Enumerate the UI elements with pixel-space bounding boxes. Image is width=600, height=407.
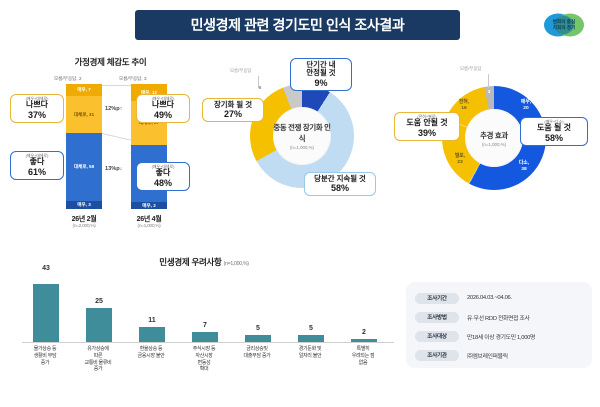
bar-category-0: 물가상승 등생활비 부담증가 — [19, 346, 71, 366]
delta-bad: 12%p↑ — [105, 106, 122, 112]
callout-good-feb: (매우+대체로) 좋다 61% — [10, 151, 64, 180]
concerns-chart-title-n: (n=1,000,%) — [224, 261, 249, 267]
budget-slice-none-value: 16 — [461, 106, 466, 111]
info-value-target: 만18세 이상 경기도민 1,000명 — [467, 332, 535, 341]
gyeonggi-logo: 변화의 중심 기회의 경기 — [542, 12, 586, 38]
callout-bad-apr-label: 나쁘다 — [141, 101, 185, 110]
callout-bad-feb-label: 나쁘다 — [15, 101, 59, 110]
axis-label-apr: 26년 4월 (n=1,000,%) — [114, 214, 184, 229]
callout-good-apr-label: 좋다 — [141, 169, 185, 178]
bar-category-4: 금리상승및대출부담 증가 — [231, 346, 283, 360]
survey-info-box: 조사기간 2026.04.03.~04.06. 조사방법 유·무선 RDD 전화… — [406, 282, 592, 368]
budget-slice-none: 전혀, 16 — [454, 100, 474, 112]
bar-category-1: 유가상승에따른교통비 물류비증가 — [72, 346, 124, 373]
callout-war-continue-value: 58% — [309, 183, 371, 193]
page-title: 민생경제 관련 경기도민 인식 조사결과 — [135, 10, 460, 40]
callout-bad-feb: (매우+대체로) 나쁘다 37% — [10, 94, 64, 123]
segment-very-good-feb: 매우, 3 — [66, 201, 102, 209]
info-row-agency: 조사기관 ㈜엠브레인퍼블릭 — [415, 348, 508, 362]
bar-feb: 매우, 7 대체로, 31 대체로, 58 매우, 3 — [66, 84, 102, 209]
info-row-period: 조사기간 2026.04.03.~04.06. — [415, 291, 512, 305]
info-value-method: 유·무선 RDD 전화면접 조사 — [467, 313, 530, 322]
bar-value-2: 11 — [139, 317, 165, 324]
axis-label-feb: 26년 2월 (n=2,000,%) — [49, 214, 119, 229]
bar-value-4: 5 — [245, 325, 271, 332]
bar-0 — [33, 284, 59, 342]
bar-value-3: 7 — [192, 322, 218, 329]
budget-slice-some-value: 38 — [521, 167, 526, 172]
info-key-method: 조사방법 — [415, 312, 459, 323]
concerns-plot-area: 43 25 11 7 5 5 2 — [22, 274, 394, 343]
budget-slice-very-name: 매우, — [521, 100, 531, 105]
callout-war-continue-label: 당분간 지속될 것 — [309, 175, 371, 183]
callout-budget-help: (매우+다소) 도움 될 것 58% — [520, 117, 588, 146]
callout-bad-apr: (매우+대체로) 나쁘다 49% — [136, 94, 190, 123]
info-value-agency: ㈜엠브레인퍼블릭 — [467, 351, 508, 360]
logo-line-2: 기회의 경기 — [553, 25, 575, 31]
war-slice-dk-value: 6 — [254, 86, 266, 92]
callout-budget-help-label: 도움 될 것 — [525, 124, 583, 133]
concerns-bar-chart: 민생경제 우려사항 (n=1,000,%) 43 25 11 7 5 5 2 물… — [8, 252, 400, 402]
concerns-chart-title-text: 민생경제 우려사항 — [159, 257, 221, 267]
callout-good-apr-value: 48% — [141, 178, 185, 188]
bar-4 — [245, 335, 271, 342]
concerns-chart-title: 민생경제 우려사항 (n=1,000,%) — [8, 256, 400, 268]
axis-label-feb-n: (n=2,000,%) — [49, 224, 119, 229]
page-title-text: 민생경제 관련 경기도민 인식 조사결과 — [191, 15, 405, 35]
axis-label-apr-n: (n=1,000,%) — [114, 224, 184, 229]
budget-effect-chart: 추경 효과 (n=1,000,%) 모름/무응답 3 매우, 20 다소, 38… — [396, 62, 592, 227]
war-donut-center: 중동 전쟁 장기화 인식 (n=1,000,%) — [273, 107, 331, 165]
callout-budget-nohelp: (전혀+별로) 도움 안될 것 39% — [394, 112, 460, 141]
budget-dk-leader — [488, 74, 489, 88]
bar-value-5: 5 — [298, 325, 324, 332]
info-value-period: 2026.04.03.~04.06. — [467, 295, 512, 301]
connector-top — [102, 85, 131, 86]
bar-value-1: 25 — [86, 298, 112, 305]
budget-donut-center: 추경 효과 (n=1,000,%) — [465, 109, 523, 167]
war-donut-center-n: (n=1,000,%) — [290, 145, 314, 150]
budget-slice-some: 다소, 38 — [514, 161, 534, 173]
axis-label-feb-text: 26년 2월 — [72, 216, 97, 223]
callout-war-short: 단기간 내 안정될 것 9% — [290, 58, 352, 91]
bar-3 — [192, 332, 218, 342]
axis-label-apr-text: 26년 4월 — [137, 216, 162, 223]
info-row-target: 조사대상 만18세 이상 경기도민 1,000명 — [415, 329, 535, 343]
callout-war-short-l2: 안정될 것 — [295, 69, 347, 77]
budget-slice-none-name: 전혀, — [459, 100, 469, 105]
callout-war-short-value: 9% — [295, 78, 347, 88]
bar-6 — [351, 339, 377, 342]
household-economy-chart: 가정경제 체감도 추이 모름/무응답, 2 매우, 7 대체로, 31 대체로,… — [8, 56, 213, 231]
dk-label-feb: 모름/무응답, 2 — [54, 76, 82, 82]
header: 민생경제 관련 경기도민 인식 조사결과 변화의 중심 기회의 경기 — [0, 0, 600, 46]
household-economy-title: 가정경제 체감도 추이 — [8, 56, 213, 68]
bar-2 — [139, 327, 165, 342]
budget-slice-very-value: 20 — [523, 106, 528, 111]
callout-bad-feb-value: 37% — [15, 110, 59, 120]
budget-slice-dk-value: 3 — [482, 90, 496, 96]
callout-budget-help-value: 58% — [525, 133, 583, 143]
logo-text: 변화의 중심 기회의 경기 — [542, 12, 586, 38]
bar-5 — [298, 335, 324, 342]
bar-value-6: 2 — [351, 329, 377, 336]
callout-good-feb-value: 61% — [15, 167, 59, 177]
budget-slice-little: 별로, 23 — [450, 154, 470, 166]
callout-war-long-value: 27% — [207, 109, 259, 119]
bar-category-3: 주식시장 등자산시장변동성확대 — [178, 346, 230, 373]
callout-budget-nohelp-value: 39% — [399, 128, 455, 138]
bar-category-5: 경기둔화 및일자리 불안 — [284, 346, 336, 360]
bar-category-6: 특별히우려되는 점없음 — [337, 346, 389, 366]
callout-war-long-label: 장기화 될 것 — [207, 101, 259, 109]
segment-bad-feb: 대체로, 31 — [66, 96, 102, 133]
war-donut-center-title: 중동 전쟁 장기화 인식 — [273, 122, 331, 144]
budget-slice-some-name: 다소, — [519, 161, 529, 166]
war-perception-chart: 중동 전쟁 장기화 인식 (n=1,000,%) 모름/무응답 6 단기간 내 … — [232, 62, 372, 222]
infographic-page: 민생경제 관련 경기도민 인식 조사결과 변화의 중심 기회의 경기 가정경제 … — [0, 0, 600, 407]
callout-bad-apr-value: 49% — [141, 110, 185, 120]
info-key-target: 조사대상 — [415, 331, 459, 342]
budget-donut-center-title: 추경 효과 — [480, 130, 508, 141]
budget-slice-little-value: 23 — [457, 160, 462, 165]
segment-very-bad-feb: 매우, 7 — [66, 84, 102, 96]
info-key-period: 조사기간 — [415, 293, 459, 304]
callout-good-feb-label: 좋다 — [15, 158, 59, 167]
bar-value-0: 43 — [33, 265, 59, 272]
war-dk-label: 모름/무응답 — [230, 68, 251, 74]
budget-dk-label: 모름/무응답 — [460, 66, 481, 72]
callout-good-apr: (매우+대체로) 좋다 48% — [136, 162, 190, 191]
budget-donut-center-n: (n=1,000,%) — [482, 142, 506, 147]
callout-budget-nohelp-label: 도움 안될 것 — [399, 119, 455, 128]
connector-mid — [102, 133, 131, 141]
info-row-method: 조사방법 유·무선 RDD 전화면접 조사 — [415, 310, 530, 324]
info-key-agency: 조사기관 — [415, 350, 459, 361]
segment-good-feb: 대체로, 58 — [66, 133, 102, 201]
bar-1 — [86, 308, 112, 342]
bar-category-2: 환율상승 등금융시장 불안 — [125, 346, 177, 360]
callout-war-continue: 당분간 지속될 것 58% — [304, 172, 376, 196]
budget-slice-very: 매우, 20 — [516, 100, 536, 112]
callout-war-long: 장기화 될 것 27% — [202, 98, 264, 122]
dk-label-apr: 모름/무응답, 3 — [119, 76, 147, 82]
budget-slice-little-name: 별로, — [455, 154, 465, 159]
segment-very-good-apr: 매우, 2 — [131, 202, 167, 209]
delta-good: 13%p↓ — [105, 166, 122, 172]
